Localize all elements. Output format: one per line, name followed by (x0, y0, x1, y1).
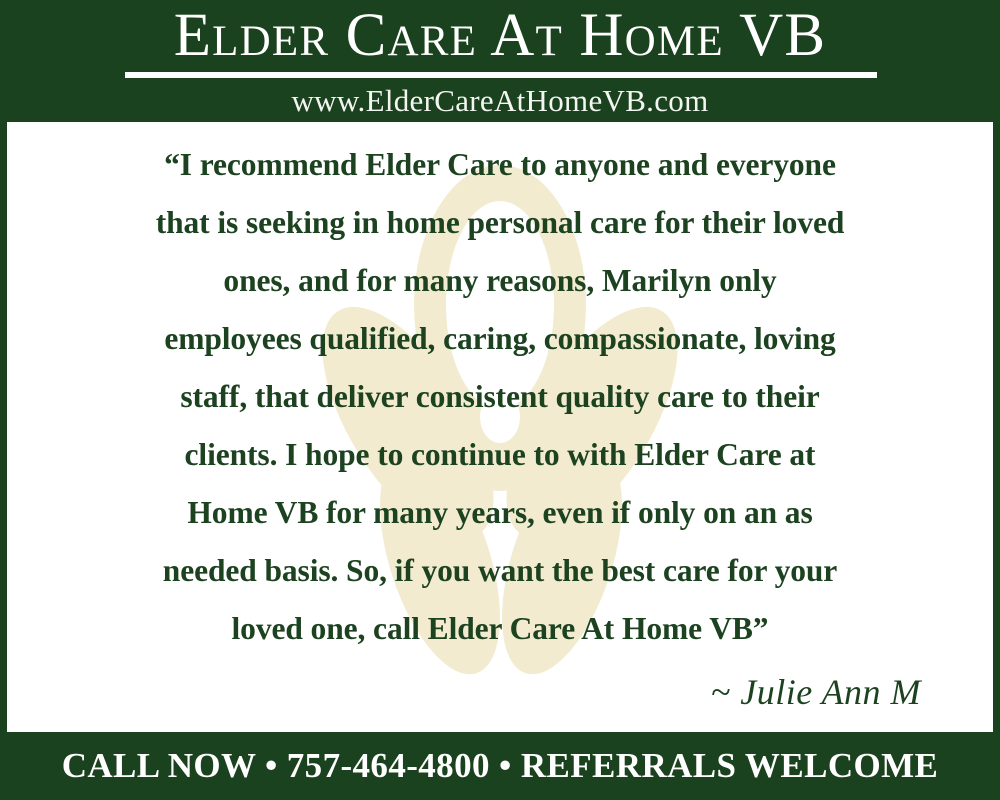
title-underline-rule (125, 72, 877, 78)
quote-line: staff, that deliver consistent quality c… (35, 368, 965, 426)
quote-line: loved one, call Elder Care At Home VB” (35, 600, 965, 658)
quote-line: employees qualified, caring, compassiona… (35, 310, 965, 368)
quote-line: needed basis. So, if you want the best c… (35, 542, 965, 600)
advertisement-card: Elder Care At Home VB www.ElderCareAtHom… (0, 0, 1000, 800)
testimonial-panel: “I recommend Elder Care to anyone and ev… (7, 122, 993, 732)
call-to-action-text[interactable]: CALL NOW • 757-464-4800 • REFERRALS WELC… (62, 745, 939, 787)
ad-header: Elder Care At Home VB www.ElderCareAtHom… (0, 0, 1000, 122)
ad-footer: CALL NOW • 757-464-4800 • REFERRALS WELC… (0, 732, 1000, 800)
brand-title: Elder Care At Home VB (0, 2, 1000, 70)
quote-line: Home VB for many years, even if only on … (35, 484, 965, 542)
website-url[interactable]: www.ElderCareAtHomeVB.com (0, 82, 1000, 120)
testimonial-attribution: ~ Julie Ann M (711, 670, 921, 714)
quote-line: ones, and for many reasons, Marilyn only (35, 252, 965, 310)
quote-line: “I recommend Elder Care to anyone and ev… (35, 136, 965, 194)
quote-line: clients. I hope to continue to with Elde… (35, 426, 965, 484)
quote-line: that is seeking in home personal care fo… (35, 194, 965, 252)
testimonial-quote: “I recommend Elder Care to anyone and ev… (35, 136, 965, 658)
